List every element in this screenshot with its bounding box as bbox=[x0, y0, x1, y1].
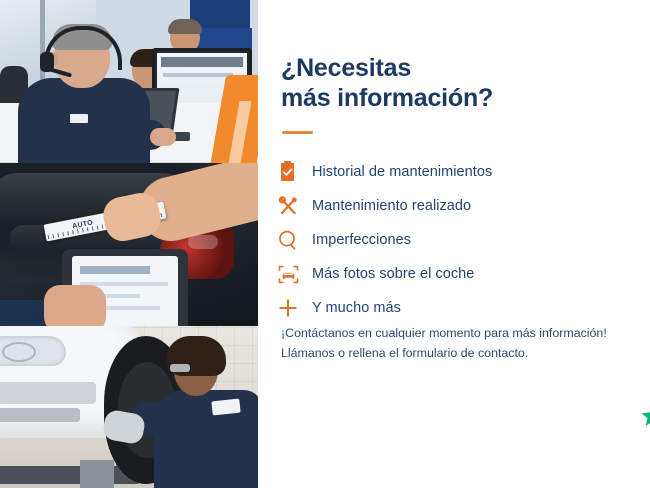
mechanic bbox=[152, 338, 258, 488]
feature-list: Historial de mantenimientos Mantenimient… bbox=[278, 155, 608, 325]
magnifier-icon bbox=[278, 228, 312, 252]
title-line-1: ¿Necesitas bbox=[281, 54, 531, 84]
vehicle-inspection-photo: AUTO HERO bbox=[0, 163, 258, 326]
tools-cross-icon bbox=[278, 194, 312, 218]
list-item-label: Más fotos sobre el coche bbox=[312, 266, 474, 282]
list-item: Y mucho más bbox=[278, 291, 608, 325]
contact-line-2: Llámanos o rellena el formulario de cont… bbox=[281, 343, 641, 363]
list-item: Imperfecciones bbox=[278, 223, 608, 257]
contact-line-1: ¡Contáctanos en cualquier momento para m… bbox=[281, 323, 641, 343]
inspector-hand-lower bbox=[44, 285, 106, 326]
list-item-label: Y mucho más bbox=[312, 300, 401, 316]
information-banner: AUTO HERO bbox=[0, 0, 650, 488]
list-item: Más fotos sobre el coche bbox=[278, 257, 608, 291]
uniform-badge bbox=[211, 399, 240, 416]
list-item-label: Mantenimiento realizado bbox=[312, 198, 471, 214]
list-item: Historial de mantenimientos bbox=[278, 155, 608, 189]
call-centre-agents-photo bbox=[0, 0, 258, 163]
trustpilot-widget[interactable]: Trustpilot Excelente bbox=[640, 390, 650, 450]
list-item: Mantenimiento realizado bbox=[278, 189, 608, 223]
lower-grille bbox=[0, 408, 80, 422]
content-panel: ¿Necesitas más información? Historial de… bbox=[258, 0, 650, 488]
trustpilot-star-icon bbox=[640, 404, 650, 433]
lift-post bbox=[80, 460, 114, 488]
list-item-label: Imperfecciones bbox=[312, 232, 411, 248]
plus-icon bbox=[278, 296, 312, 320]
car-frame-icon bbox=[278, 262, 312, 286]
headlight bbox=[0, 336, 66, 366]
front-grille bbox=[0, 382, 96, 404]
contact-text: ¡Contáctanos en cualquier momento para m… bbox=[281, 323, 641, 363]
photo-column: AUTO HERO bbox=[0, 0, 258, 488]
name-badge bbox=[70, 114, 88, 123]
tail-light-highlight bbox=[188, 235, 218, 249]
safety-glasses bbox=[170, 364, 190, 372]
list-item-label: Historial de mantenimientos bbox=[312, 164, 492, 180]
title-line-2: más información? bbox=[281, 84, 531, 114]
clipboard-check-icon bbox=[278, 160, 312, 184]
title-underline bbox=[282, 131, 313, 134]
trustpilot-logo[interactable]: Trustpilot bbox=[640, 404, 650, 433]
foreground-agent bbox=[18, 26, 148, 163]
mechanic-wheel-photo bbox=[0, 326, 258, 488]
page-title: ¿Necesitas más información? bbox=[281, 54, 531, 113]
